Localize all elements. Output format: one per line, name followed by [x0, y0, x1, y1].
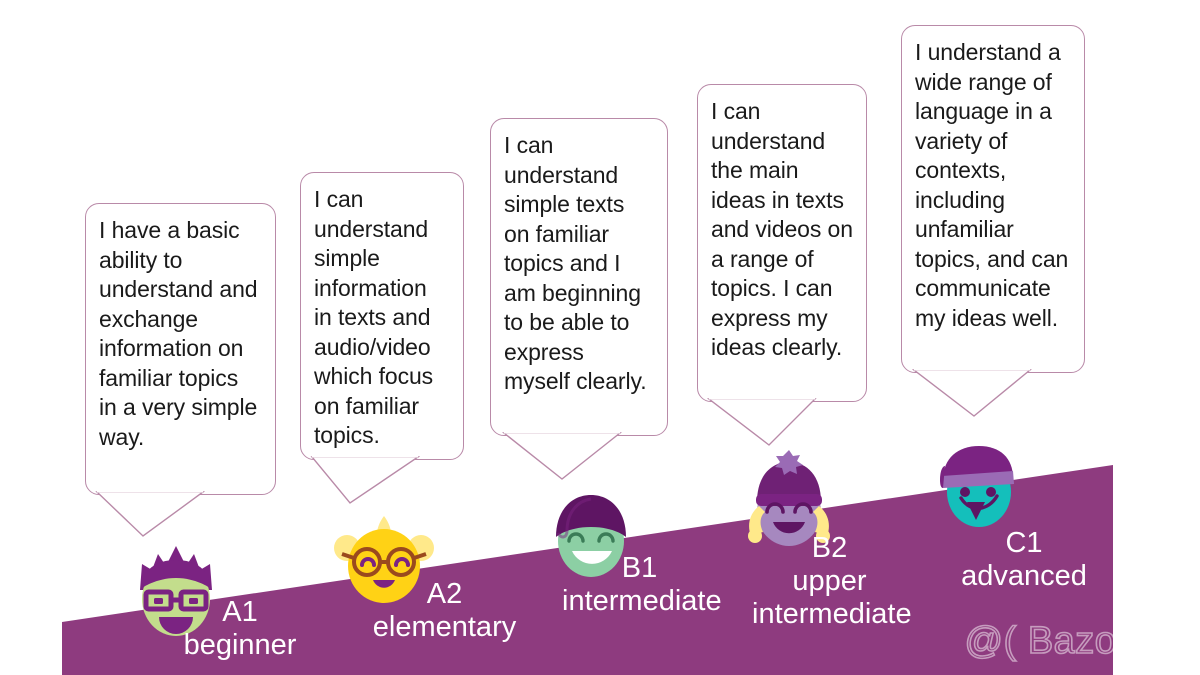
level-code-c1: C1: [954, 527, 1094, 560]
bubble-tail-a1: [95, 490, 205, 540]
level-name-b2-line1: upper: [752, 565, 907, 598]
level-code-a2: A2: [372, 578, 517, 611]
bubble-b1: I can understand simple texts on familia…: [490, 118, 668, 436]
level-name-b1: intermediate: [562, 585, 717, 618]
level-code-a1: A1: [175, 596, 305, 629]
level-label-b1: B1 intermediate: [562, 552, 717, 618]
level-name-a2: elementary: [372, 611, 517, 644]
bubble-c1: I understand a wide range of language in…: [901, 25, 1085, 373]
level-code-b2: B2: [752, 532, 907, 565]
chart-canvas: I have a basic ability to understand and…: [0, 0, 1200, 675]
level-name-a1: beginner: [175, 629, 305, 662]
level-label-a1: A1 beginner: [175, 596, 305, 662]
level-name-c1: advanced: [954, 560, 1094, 593]
level-label-b2: B2 upper intermediate: [752, 532, 907, 631]
bubble-tail-b2: [707, 397, 817, 449]
bubble-a2: I can understand simple information in t…: [300, 172, 464, 460]
bubble-b2: I can understand the main ideas in texts…: [697, 84, 867, 402]
bubble-tail-b1: [502, 431, 622, 483]
watermark: @( Bazos.sk: [965, 620, 1186, 663]
bubble-a1: I have a basic ability to understand and…: [85, 203, 276, 495]
level-label-c1: C1 advanced: [954, 527, 1094, 593]
level-name-b2-line2: intermediate: [752, 598, 907, 631]
level-label-a2: A2 elementary: [372, 578, 517, 644]
c1-avatar-icon: [929, 440, 1025, 536]
bubble-tail-a2: [310, 455, 420, 507]
level-code-b1: B1: [562, 552, 717, 585]
bubble-tail-c1: [912, 368, 1032, 420]
